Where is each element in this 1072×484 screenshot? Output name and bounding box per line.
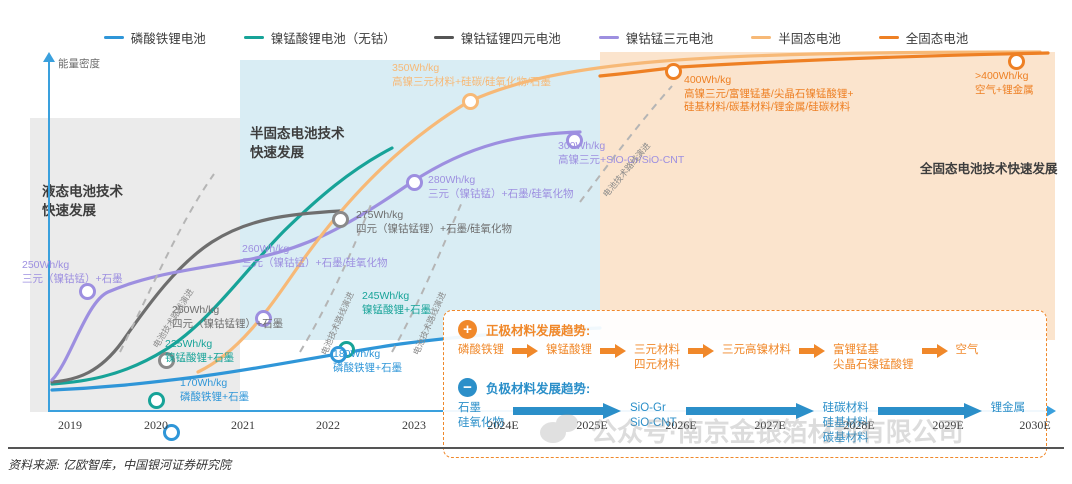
annotation-170-lfp-value: 170Wh/kg xyxy=(180,377,249,391)
x-tick-2019: 2019 xyxy=(58,418,82,433)
annotation-300-ternary-value: 300Wh/kg xyxy=(558,140,684,154)
arrow-right-long-icon xyxy=(686,403,814,419)
arrow-right-icon xyxy=(688,344,714,358)
arrow-right-icon xyxy=(600,344,626,358)
annotation-245-lnmo-desc: 镍锰酸锂+石墨 xyxy=(362,304,431,318)
x-tick-2030E: 2030E xyxy=(1019,418,1050,433)
annotation-260-ternary-desc: 三元（镍钴锰）+石墨/硅氧化物 xyxy=(242,257,388,271)
positive-trend-header: + 正极材料发展趋势: xyxy=(458,320,590,339)
chart-legend: 磷酸铁锂电池 镍锰酸锂电池（无钴） 镍钴锰锂四元电池 镍钴锰三元电池 半固态电池… xyxy=(0,26,1072,48)
legend-label-lnmo: 镍锰酸锂电池（无钴） xyxy=(271,28,396,47)
annotation-400-allsolid-desc2: 硅基材料/碳基材料/锂金属/硅碳材料 xyxy=(684,101,853,115)
negative-chain-item-3: 锂金属 xyxy=(991,401,1026,416)
x-tick-2026E: 2026E xyxy=(665,418,696,433)
positive-chain-item-4-l2: 尖晶石镍锰酸锂 xyxy=(833,358,914,373)
legend-label-ternary: 镍钴锰三元电池 xyxy=(626,28,714,47)
x-tick-2021: 2021 xyxy=(231,418,255,433)
x-tick-2022: 2022 xyxy=(316,418,340,433)
annotation-400-allsolid: 400Wh/kg 高镍三元/富锂锰基/尖晶石镍锰酸锂+ 硅基材料/碳基材料/锂金… xyxy=(684,74,853,115)
annotation-260-ternary: 260Wh/kg 三元（镍钴锰）+石墨/硅氧化物 xyxy=(242,243,388,270)
annotation-250-ternary-desc: 三元（镍钴锰）+石墨 xyxy=(22,273,123,287)
positive-chain-item-4-l1: 富锂锰基 xyxy=(833,343,914,358)
legend-label-quaternary: 镍钴锰锂四元电池 xyxy=(461,28,561,47)
annotation-245-lnmo-value: 245Wh/kg xyxy=(362,290,431,304)
annotation-275-quaternary: 275Wh/kg 四元（镍钴锰锂）+石墨/硅氧化物 xyxy=(356,209,512,236)
point-quaternary-2022[interactable] xyxy=(332,211,349,228)
annotation-250-ternary-value: 250Wh/kg xyxy=(22,259,123,273)
legend-item-lnmo[interactable]: 镍锰酸锂电池（无钴） xyxy=(244,28,396,47)
plus-icon: + xyxy=(458,320,477,339)
legend-item-lfp[interactable]: 磷酸铁锂电池 xyxy=(104,28,206,47)
positive-chain-item-2: 三元材料 四元材料 xyxy=(634,343,680,373)
legend-label-lfp: 磷酸铁锂电池 xyxy=(131,28,206,47)
x-axis-ticks: 2019 2020 2021 2022 2023 2024E 2025E 202… xyxy=(0,418,1072,436)
point-allsolid-2030[interactable] xyxy=(1008,53,1025,70)
legend-item-ternary[interactable]: 镍钴锰三元电池 xyxy=(599,28,714,47)
positive-chain-item-1-l1: 镍锰酸锂 xyxy=(546,343,592,358)
positive-chain-item-2-l2: 四元材料 xyxy=(634,358,680,373)
positive-chain-item-5-l1: 空气 xyxy=(956,343,979,358)
annotation-350-semisolid-desc: 高镍三元材料+硅碳/硅氧化物/石墨 xyxy=(392,76,551,90)
x-tick-2027E: 2027E xyxy=(754,418,785,433)
arrow-right-long-icon xyxy=(513,403,621,419)
x-tick-2025E: 2025E xyxy=(576,418,607,433)
positive-chain-item-3: 三元高镍材料 xyxy=(722,343,791,358)
positive-chain-item-5: 空气 xyxy=(956,343,979,358)
annotation-300-ternary: 300Wh/kg 高镍三元+SiO-Gr/SiO-CNT xyxy=(558,140,684,167)
positive-material-chain: 磷酸铁锂 镍锰酸锂 三元材料 四元材料 三元高镍材料 富锂锰基 xyxy=(458,343,979,373)
annotation-400plus-allsolid: >400Wh/kg 空气+锂金属 xyxy=(975,70,1034,97)
annotation-170-lfp-desc: 磷酸铁锂+石墨 xyxy=(180,391,249,405)
annotation-245-lnmo: 245Wh/kg 镍锰酸锂+石墨 xyxy=(362,290,431,317)
positive-chain-item-0-l1: 磷酸铁锂 xyxy=(458,343,504,358)
negative-chain-item-1-l1: SiO-Gr xyxy=(630,401,677,416)
legend-swatch-ternary xyxy=(599,36,619,39)
annotation-225-lnmo-desc: 镍锰酸锂+石墨 xyxy=(165,352,234,366)
point-semisolid-2024[interactable] xyxy=(462,93,479,110)
negative-chain-item-0-l1: 石墨 xyxy=(458,401,504,416)
annotation-250-ternary: 250Wh/kg 三元（镍钴锰）+石墨 xyxy=(22,259,123,286)
negative-trend-header: − 负极材料发展趋势: xyxy=(458,378,590,397)
annotation-275-quaternary-desc: 四元（镍钴锰锂）+石墨/硅氧化物 xyxy=(356,223,512,237)
annotation-400plus-allsolid-desc: 空气+锂金属 xyxy=(975,84,1034,98)
legend-swatch-quaternary xyxy=(434,36,454,39)
legend-swatch-allsolid xyxy=(879,36,899,39)
annotation-280-ternary-value: 280Wh/kg xyxy=(428,174,574,188)
chart-root: 磷酸铁锂电池 镍锰酸锂电池（无钴） 镍钴锰锂四元电池 镍钴锰三元电池 半固态电池… xyxy=(0,0,1072,484)
annotation-170-lfp: 170Wh/kg 磷酸铁锂+石墨 xyxy=(180,377,249,404)
minus-icon: − xyxy=(458,378,477,397)
annotation-350-semisolid: 350Wh/kg 高镍三元材料+硅碳/硅氧化物/石墨 xyxy=(392,62,551,89)
annotation-400-allsolid-desc: 高镍三元/富锂锰基/尖晶石镍锰酸锂+ xyxy=(684,88,853,102)
legend-item-quaternary[interactable]: 镍钴锰锂四元电池 xyxy=(434,28,561,47)
annotation-260-ternary-value: 260Wh/kg xyxy=(242,243,388,257)
plot-area: 液态电池技术 快速发展 半固态电池技术 快速发展 全固态电池技术快速发展 能量密… xyxy=(0,52,1072,412)
positive-chain-item-1: 镍锰酸锂 xyxy=(546,343,592,358)
x-tick-2028E: 2028E xyxy=(843,418,874,433)
annotation-180-lfp-desc: 磷酸铁锂+石墨 xyxy=(333,362,402,376)
x-tick-2024E: 2024E xyxy=(487,418,518,433)
point-ternary-2023[interactable] xyxy=(406,174,423,191)
annotation-250-quaternary: 250Wh/kg 四元（镍钴锰锂）+石墨 xyxy=(172,304,283,331)
source-note: 资料来源: 亿欧智库，中国银河证券研究院 xyxy=(8,456,231,473)
positive-chain-item-2-l1: 三元材料 xyxy=(634,343,680,358)
footer-divider xyxy=(8,447,1064,449)
positive-chain-item-3-l1: 三元高镍材料 xyxy=(722,343,791,358)
arrow-right-icon xyxy=(799,344,825,358)
legend-swatch-lnmo xyxy=(244,36,264,39)
x-tick-2020: 2020 xyxy=(144,418,168,433)
annotation-280-ternary-desc: 三元（镍钴锰）+石墨/硅氧化物 xyxy=(428,188,574,202)
annotation-350-semisolid-value: 350Wh/kg xyxy=(392,62,551,76)
annotation-180-lfp: 180Wh/kg 磷酸铁锂+石墨 xyxy=(333,348,402,375)
point-allsolid-2026[interactable] xyxy=(665,63,682,80)
annotation-225-lnmo-value: 225Wh/kg xyxy=(165,338,234,352)
positive-trend-title: 正极材料发展趋势: xyxy=(486,320,590,339)
legend-label-semisolid: 半固态电池 xyxy=(778,28,841,47)
legend-swatch-semisolid xyxy=(751,36,771,39)
positive-chain-item-0: 磷酸铁锂 xyxy=(458,343,504,358)
negative-chain-item-3-l1: 锂金属 xyxy=(991,401,1026,416)
legend-item-semisolid[interactable]: 半固态电池 xyxy=(751,28,841,47)
x-tick-2029E: 2029E xyxy=(932,418,963,433)
annotation-250-quaternary-desc: 四元（镍钴锰锂）+石墨 xyxy=(172,318,283,332)
annotation-400-allsolid-value: 400Wh/kg xyxy=(684,74,853,88)
arrow-right-long-icon xyxy=(878,403,982,419)
annotation-280-ternary: 280Wh/kg 三元（镍钴锰）+石墨/硅氧化物 xyxy=(428,174,574,201)
negative-chain-item-2-l1: 硅碳材料 xyxy=(823,401,869,416)
negative-trend-title: 负极材料发展趋势: xyxy=(486,378,590,397)
legend-item-allsolid[interactable]: 全固态电池 xyxy=(879,28,969,47)
x-tick-2023: 2023 xyxy=(402,418,426,433)
legend-swatch-lfp xyxy=(104,36,124,39)
positive-chain-item-4: 富锂锰基 尖晶石镍锰酸锂 xyxy=(833,343,914,373)
legend-label-allsolid: 全固态电池 xyxy=(906,28,969,47)
arrow-right-icon xyxy=(922,344,948,358)
annotation-180-lfp-value: 180Wh/kg xyxy=(333,348,402,362)
annotation-225-lnmo: 225Wh/kg 镍锰酸锂+石墨 xyxy=(165,338,234,365)
annotation-400plus-allsolid-value: >400Wh/kg xyxy=(975,70,1034,84)
point-lnmo-2020[interactable] xyxy=(148,392,165,409)
arrow-right-icon xyxy=(512,344,538,358)
annotation-275-quaternary-value: 275Wh/kg xyxy=(356,209,512,223)
annotation-250-quaternary-value: 250Wh/kg xyxy=(172,304,283,318)
